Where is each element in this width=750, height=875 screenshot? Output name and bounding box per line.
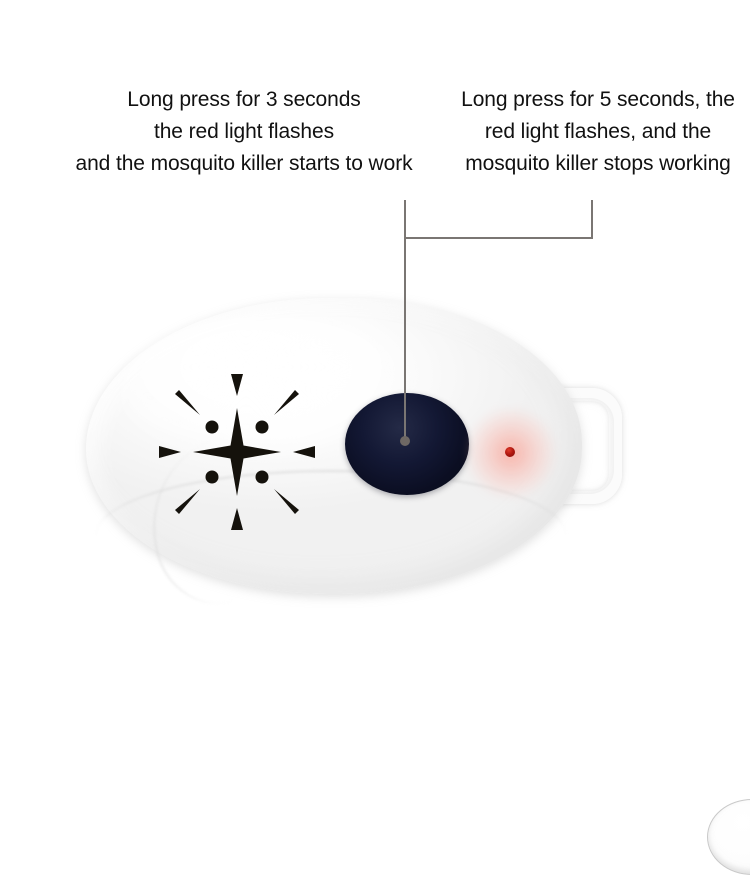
led-indicator	[505, 447, 515, 457]
stop-instruction-line-1: Long press for 5 seconds, the	[446, 84, 750, 116]
start-instruction-line-3: and the mosquito killer starts to work	[42, 148, 446, 180]
stop-instruction-callout: Long press for 5 seconds, the red light …	[446, 84, 750, 180]
power-button-face[interactable]	[707, 799, 750, 875]
center-star-icon	[193, 408, 281, 496]
start-instruction-callout: Long press for 3 seconds the red light f…	[42, 84, 446, 180]
product-instruction-image: Long press for 3 seconds the red light f…	[0, 0, 750, 750]
power-button[interactable]	[345, 393, 469, 495]
vent-spike-sw	[175, 489, 200, 514]
stop-instruction-line-3: mosquito killer stops working	[446, 148, 750, 180]
stop-instruction-line-2: red light flashes, and the	[446, 116, 750, 148]
vent-spike-se	[274, 489, 299, 514]
star-vent-pattern	[157, 372, 317, 532]
vent-spike-s	[231, 508, 243, 530]
start-instruction-line-1: Long press for 3 seconds	[42, 84, 446, 116]
vent-spike-n	[231, 374, 243, 396]
start-instruction-line-2: the red light flashes	[42, 116, 446, 148]
vent-dot-ne	[256, 421, 269, 434]
vent-spike-e	[293, 446, 315, 458]
vent-dot-sw	[206, 471, 219, 484]
vent-spike-w	[159, 446, 181, 458]
vent-spike-nw	[175, 390, 200, 415]
vent-spike-ne	[274, 390, 299, 415]
vent-dot-nw	[206, 421, 219, 434]
vent-dot-se	[256, 471, 269, 484]
